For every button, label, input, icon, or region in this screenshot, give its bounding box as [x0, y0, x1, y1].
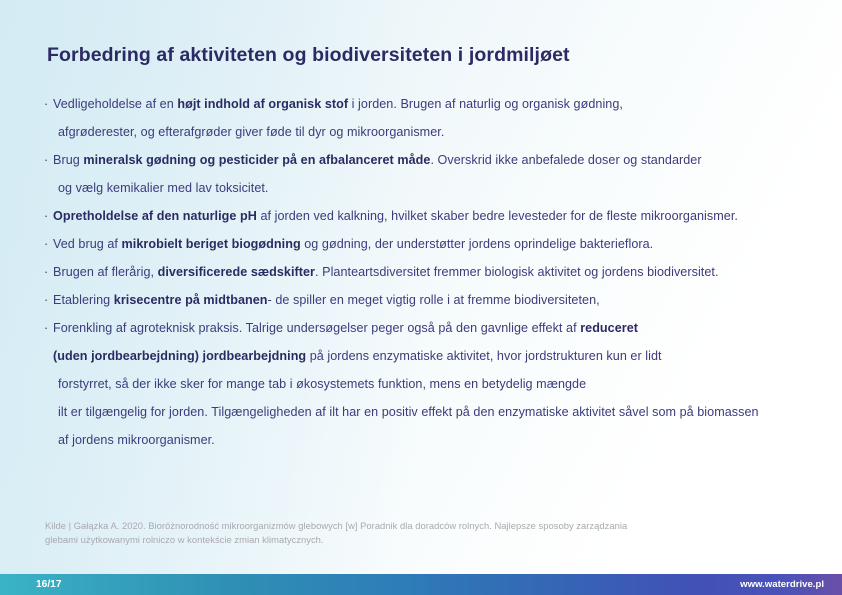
list-item: ·Opretholdelse af den naturlige pH af jo…	[44, 202, 814, 230]
footer-bar: 16/17 www.waterdrive.pl	[0, 574, 842, 595]
website-link[interactable]: www.waterdrive.pl	[740, 574, 824, 595]
bullet-icon: ·	[44, 146, 53, 174]
bullet-list: ·Vedligeholdelse af en højt indhold af o…	[44, 90, 814, 454]
line-text-bold: mineralsk gødning og pesticider på en af…	[83, 153, 430, 167]
slide-number: 16/17	[36, 574, 62, 595]
line-text: Brugen af flerårig,	[53, 265, 158, 279]
line-text: Brug	[53, 153, 83, 167]
list-item: ·Brugen af flerårig, diversificerede sæd…	[44, 258, 814, 286]
line-text-bold: højt indhold af organisk stof	[177, 97, 348, 111]
slide: Forbedring af aktiviteten og biodiversit…	[0, 0, 842, 595]
line-text: . Overskrid ikke anbefalede doser og sta…	[430, 153, 701, 167]
bullet-icon: ·	[44, 202, 53, 230]
line-text-bold: diversificerede sædskifter	[158, 265, 315, 279]
bullet-icon: ·	[44, 258, 53, 286]
bullet-icon: ·	[44, 314, 53, 342]
list-item-continuation: af jordens mikroorganismer.	[44, 426, 814, 454]
list-item-continuation: (uden jordbearbejdning) jordbearbejdning…	[44, 342, 814, 370]
line-text: Vedligeholdelse af en	[53, 97, 177, 111]
list-item: ·Forenkling af agroteknisk praksis. Talr…	[44, 314, 814, 342]
line-text: - de spiller en meget vigtig rolle i at …	[268, 293, 600, 307]
line-text: af jorden ved kalkning, hvilket skaber b…	[257, 209, 738, 223]
line-text: . Planteartsdiversitet fremmer biologisk…	[315, 265, 718, 279]
line-text: på jordens enzymatiske aktivitet, hvor j…	[306, 349, 661, 363]
line-text: Forenkling af agroteknisk praksis. Talri…	[53, 321, 580, 335]
list-item-continuation: ilt er tilgængelig for jorden. Tilgængel…	[44, 398, 814, 426]
list-item: ·Brug mineralsk gødning og pesticider på…	[44, 146, 814, 174]
line-text: afgrøderester, og efterafgrøder giver fø…	[58, 125, 444, 139]
source-line-2: glebami użytkowanymi rolniczo w kontekśc…	[45, 533, 805, 547]
source-citation: Kilde | Gałązka A. 2020. Bioróżnorodność…	[45, 519, 805, 546]
line-text: og gødning, der understøtter jordens opr…	[301, 237, 654, 251]
line-text-bold: mikrobielt beriget biogødning	[122, 237, 301, 251]
list-item: ·Ved brug af mikrobielt beriget biogødni…	[44, 230, 814, 258]
line-text: og vælg kemikalier med lav toksicitet.	[58, 181, 268, 195]
line-text: ilt er tilgængelig for jorden. Tilgængel…	[58, 405, 759, 419]
line-text: af jordens mikroorganismer.	[58, 433, 215, 447]
line-text-bold: (uden jordbearbejdning) jordbearbejdning	[53, 349, 306, 363]
line-text-bold: reduceret	[580, 321, 638, 335]
line-text-bold: krisecentre på midtbanen	[114, 293, 268, 307]
bullet-icon: ·	[44, 90, 53, 118]
list-item: ·Etablering krisecentre på midtbanen- de…	[44, 286, 814, 314]
bullet-icon: ·	[44, 230, 53, 258]
list-item: ·Vedligeholdelse af en højt indhold af o…	[44, 90, 814, 118]
line-text: Etablering	[53, 293, 114, 307]
line-text-bold: Opretholdelse af den naturlige pH	[53, 209, 257, 223]
line-text: Ved brug af	[53, 237, 122, 251]
list-item-continuation: forstyrret, så der ikke sker for mange t…	[44, 370, 814, 398]
bullet-icon: ·	[44, 286, 53, 314]
list-item-continuation: afgrøderester, og efterafgrøder giver fø…	[44, 118, 814, 146]
line-text: forstyrret, så der ikke sker for mange t…	[58, 377, 586, 391]
list-item-continuation: og vælg kemikalier med lav toksicitet.	[44, 174, 814, 202]
page-title: Forbedring af aktiviteten og biodiversit…	[47, 44, 570, 67]
line-text: i jorden. Brugen af naturlig og organisk…	[348, 97, 623, 111]
source-line-1: Kilde | Gałązka A. 2020. Bioróżnorodność…	[45, 519, 805, 533]
